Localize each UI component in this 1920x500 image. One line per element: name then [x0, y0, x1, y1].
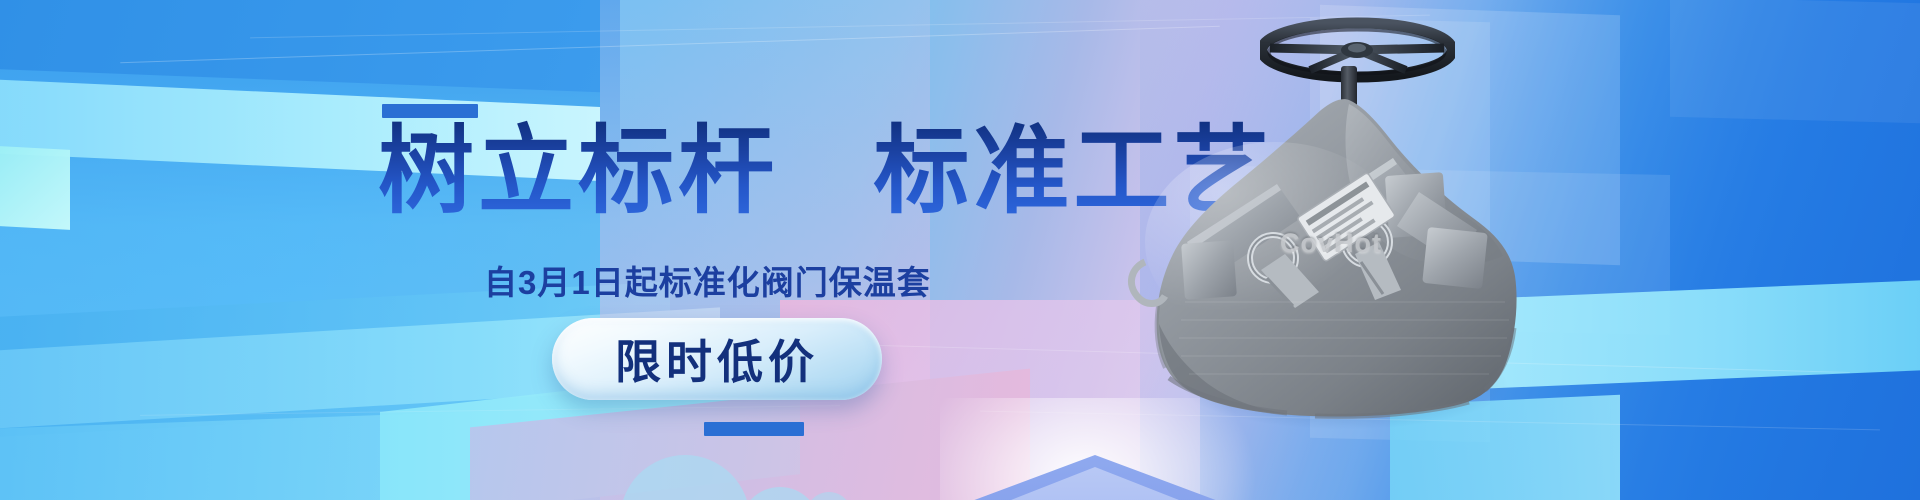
banner-subtitle: 自3月1日起标准化阀门保温套: [484, 256, 931, 304]
product-image: CovHot: [1125, 10, 1575, 460]
valve-handwheel-icon: [1260, 16, 1455, 96]
accent-dash-top-icon: [382, 104, 478, 118]
promo-banner: 树立标杆 标准工艺 自3月1日起标准化阀门保温套 限时低价: [0, 0, 1920, 500]
translucent-pane-6: [1670, 0, 1920, 123]
product-brand-label: CovHot: [1280, 228, 1382, 259]
accent-dash-bottom-icon: [704, 422, 804, 436]
banner-content: 树立标杆 标准工艺 自3月1日起标准化阀门保温套 限时低价: [0, 0, 1100, 500]
cta-button-label: 限时低价: [615, 326, 819, 392]
headline-segment-1: 树立标杆: [378, 118, 778, 225]
cta-button[interactable]: 限时低价: [552, 318, 882, 400]
